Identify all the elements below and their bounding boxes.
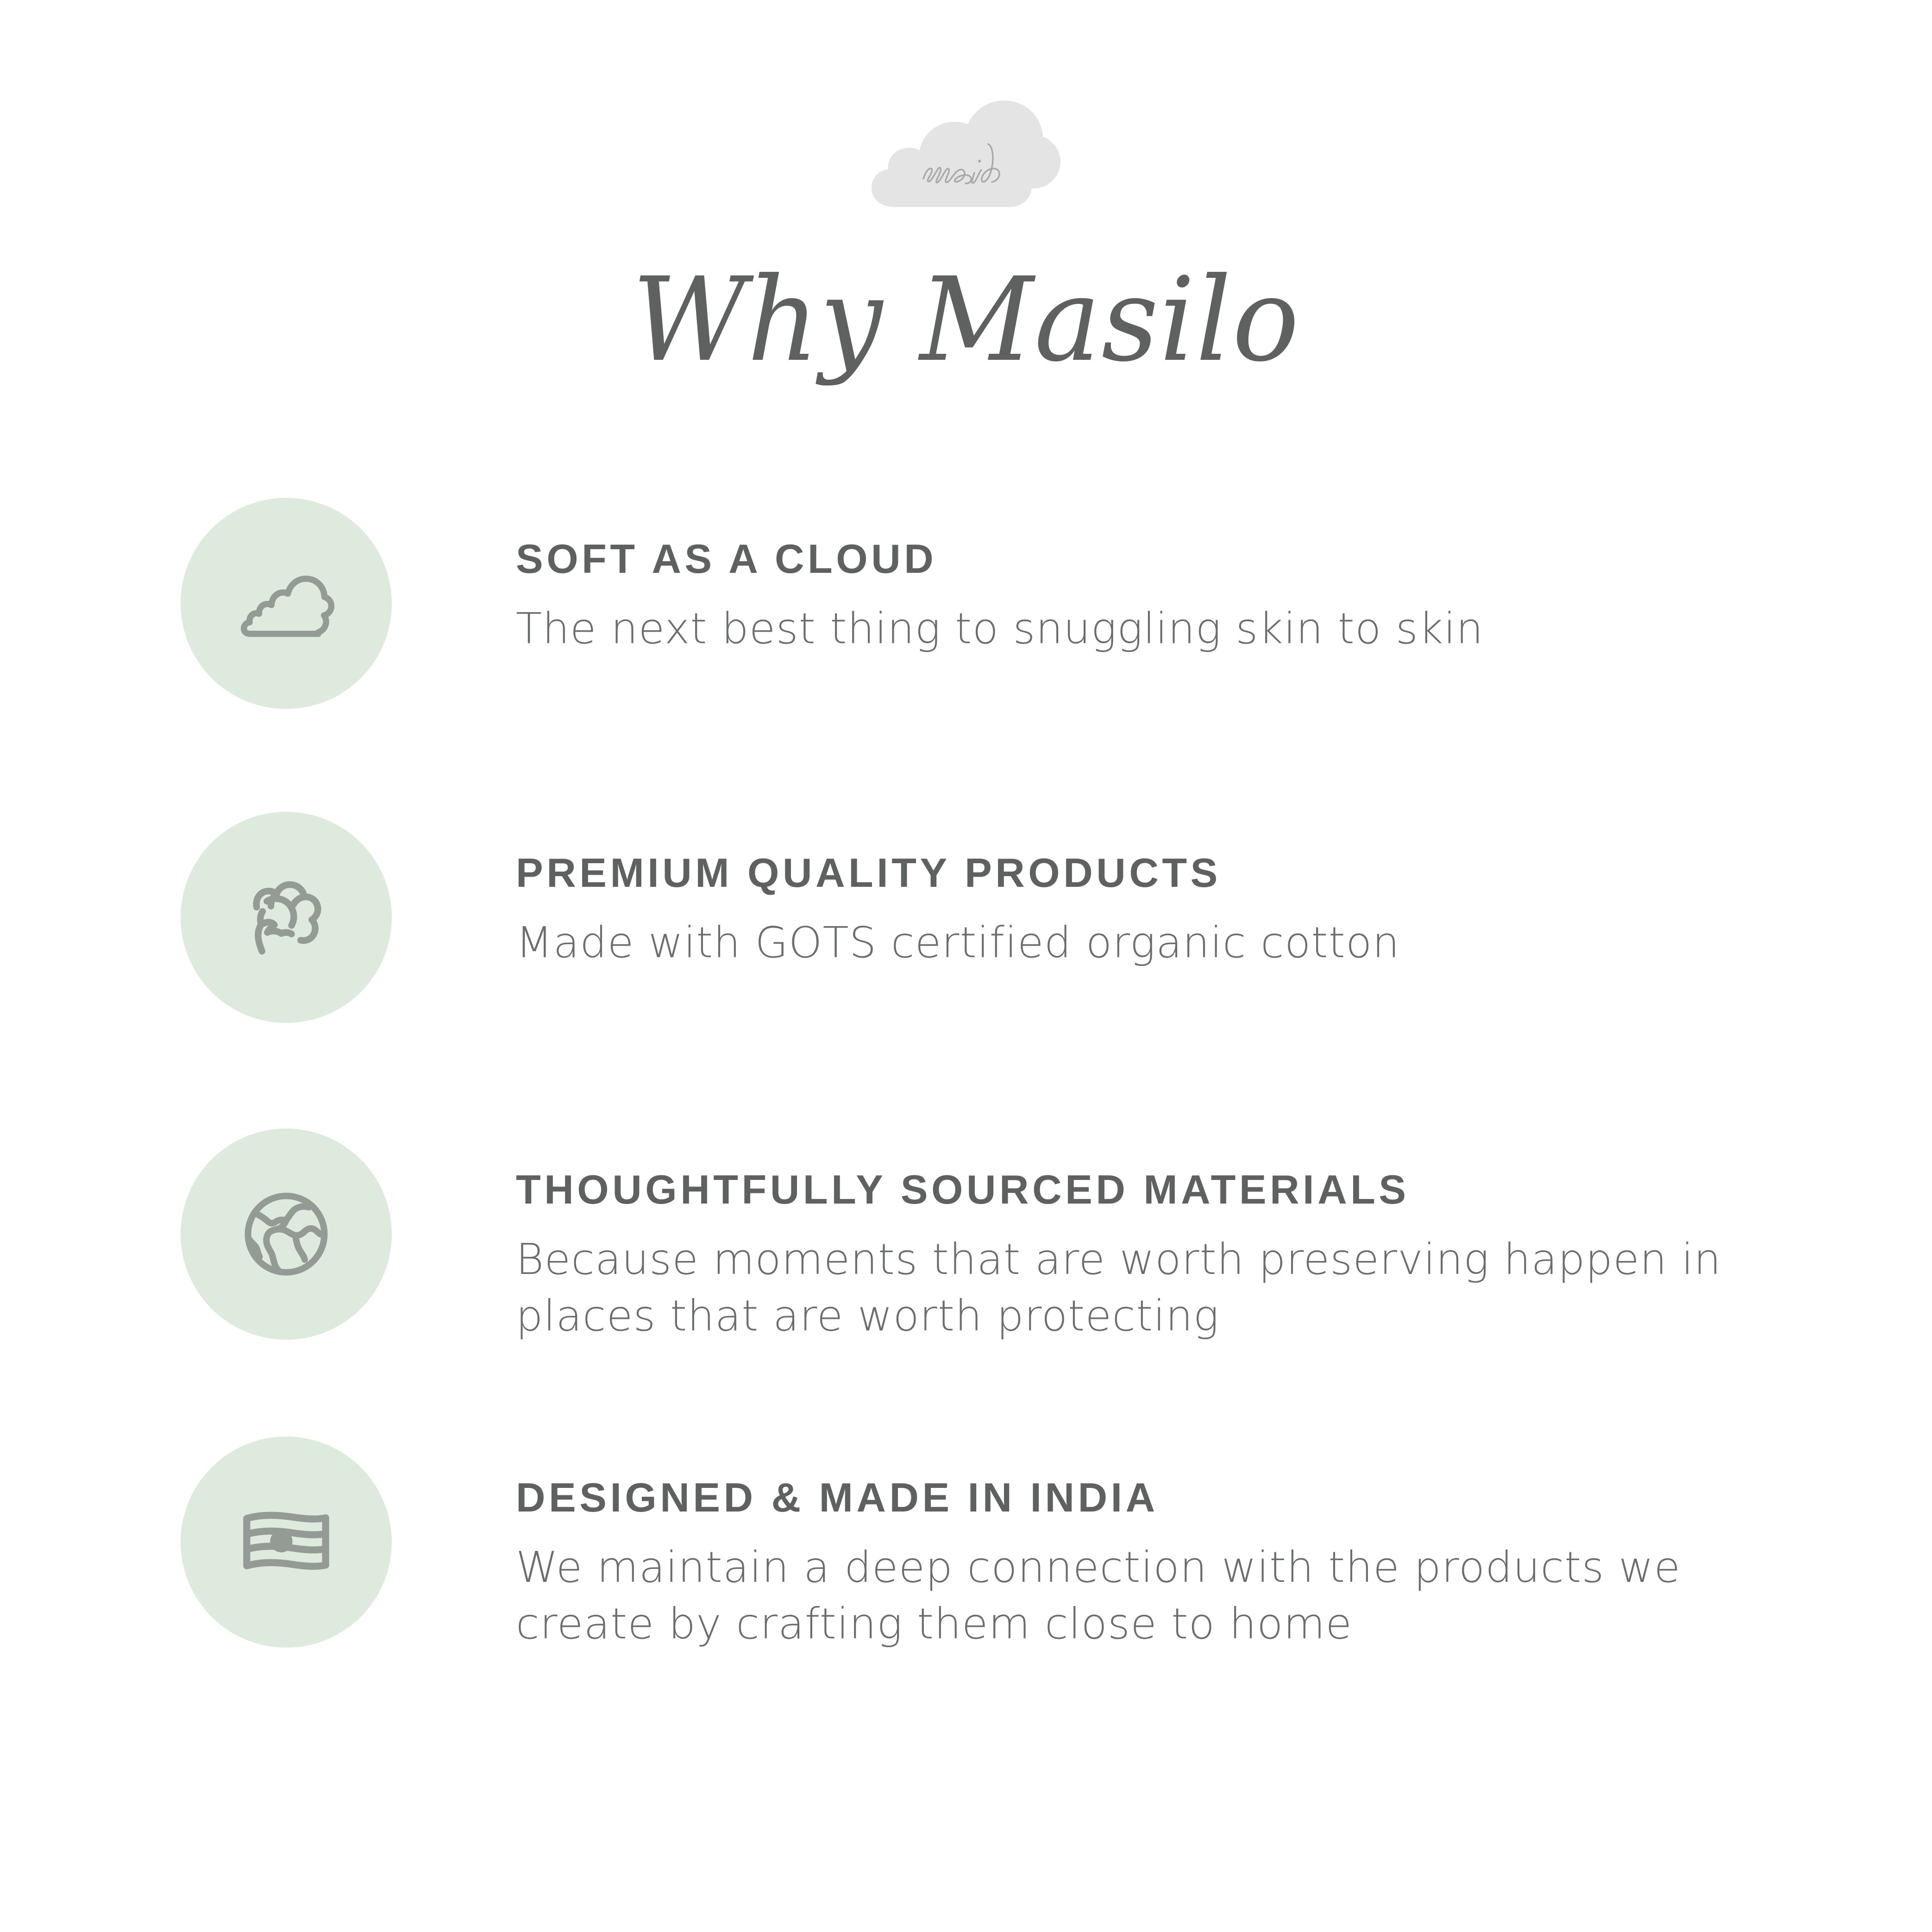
brand-logo	[0, 100, 1932, 213]
cloud-icon	[181, 498, 392, 709]
feature-text-block: DESIGNED & MADE IN INDIA We maintain a d…	[516, 1436, 1932, 1653]
feature-text-block: SOFT AS A CLOUD The next best thing to s…	[516, 498, 1932, 657]
cotton-boll-icon	[181, 812, 392, 1023]
cloud-logo-icon	[869, 100, 1063, 213]
feature-title: DESIGNED & MADE IN INDIA	[516, 1436, 1779, 1518]
feature-description: The next best thing to snuggling skin to…	[516, 579, 1738, 657]
feature-title: THOUGHTFULLY SOURCED MATERIALS	[516, 1129, 1779, 1210]
feature-title: PREMIUM QUALITY PRODUCTS	[516, 812, 1779, 893]
globe-icon	[181, 1129, 392, 1340]
feature-item-designed-made-in-india: DESIGNED & MADE IN INDIA We maintain a d…	[0, 1436, 1932, 1653]
why-masilo-page: Why Masilo SOFT AS A CLOUD The next best…	[0, 0, 1932, 1932]
feature-description: Made with GOTS certified organic cotton	[516, 893, 1738, 971]
feature-description: Because moments that are worth preservin…	[516, 1210, 1738, 1345]
feature-text-block: THOUGHTFULLY SOURCED MATERIALS Because m…	[516, 1129, 1932, 1345]
feature-item-thoughtfully-sourced-materials: THOUGHTFULLY SOURCED MATERIALS Because m…	[0, 1129, 1932, 1345]
feature-item-premium-quality-products: PREMIUM QUALITY PRODUCTS Made with GOTS …	[0, 812, 1932, 1023]
feature-list: SOFT AS A CLOUD The next best thing to s…	[0, 498, 1932, 1652]
feature-text-block: PREMIUM QUALITY PRODUCTS Made with GOTS …	[516, 812, 1932, 971]
feature-description: We maintain a deep connection with the p…	[516, 1518, 1738, 1653]
page-title: Why Masilo	[632, 259, 1300, 381]
feature-item-soft-as-a-cloud: SOFT AS A CLOUD The next best thing to s…	[0, 498, 1932, 709]
india-flag-icon	[181, 1436, 392, 1648]
page-title-container: Why Masilo	[0, 259, 1932, 381]
feature-title: SOFT AS A CLOUD	[516, 498, 1779, 579]
